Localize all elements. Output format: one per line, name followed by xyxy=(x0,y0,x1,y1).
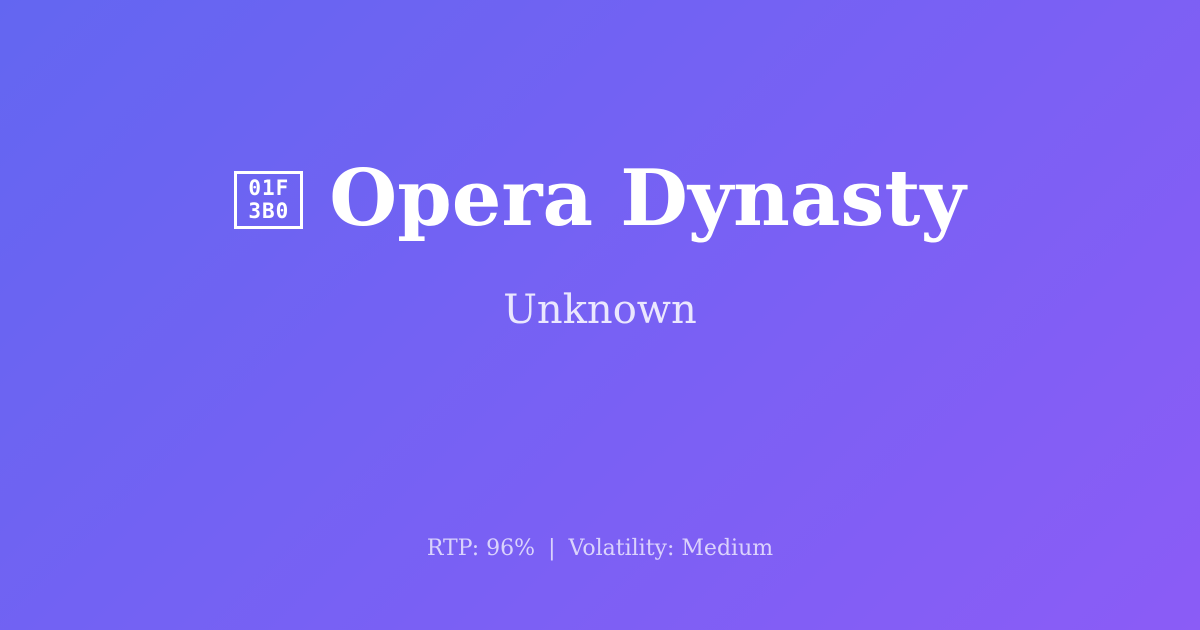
volatility-label: Volatility: xyxy=(569,536,675,561)
rtp-value: 96% xyxy=(486,536,535,561)
meta-separator: | xyxy=(542,536,561,561)
title-row: 01F 3B0 Opera Dynasty xyxy=(234,158,965,240)
slot-machine-icon: 01F 3B0 xyxy=(234,171,303,229)
footer-meta: RTP: 96% | Volatility: Medium xyxy=(0,535,1200,564)
page-title: Opera Dynasty xyxy=(329,158,965,240)
volatility-value: Medium xyxy=(681,536,773,561)
slot-machine-icon-codepoint-bottom: 3B0 xyxy=(248,200,289,223)
rtp-label: RTP: xyxy=(427,536,479,561)
slot-machine-icon-codepoint-top: 01F xyxy=(248,177,289,200)
hero-block: 01F 3B0 Opera Dynasty Unknown xyxy=(0,0,1200,492)
og-card: 01F 3B0 Opera Dynasty Unknown RTP: 96% |… xyxy=(0,0,1200,630)
page-subtitle: Unknown xyxy=(503,286,697,334)
